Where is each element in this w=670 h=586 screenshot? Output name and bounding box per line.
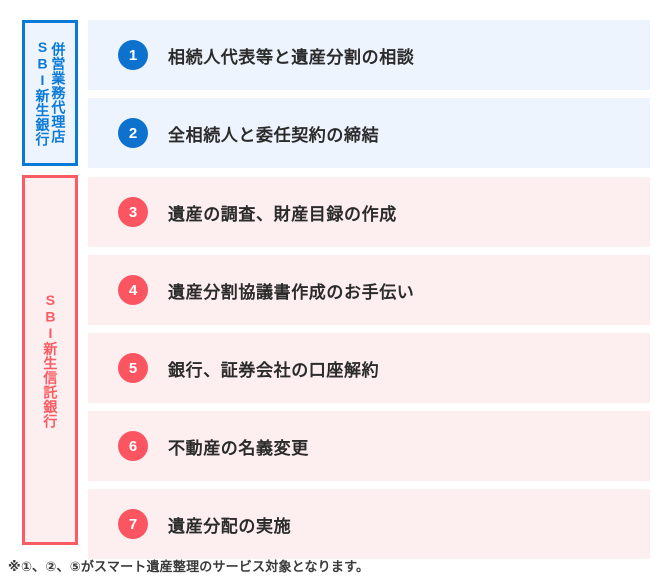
step-badge-6: 6 — [118, 431, 148, 461]
step-badge-5: 5 — [118, 353, 148, 383]
step-label-5: 銀行、証券会社の口座解約 — [168, 356, 379, 381]
step-label-2: 全相続人と委任契約の締結 — [168, 121, 379, 146]
party-name-label-bank: SBI新生銀行 — [35, 39, 50, 147]
step-row-5: 5 銀行、証券会社の口座解約 — [88, 333, 650, 403]
step-label-6: 不動産の名義変更 — [168, 434, 309, 459]
step-badge-1: 1 — [118, 40, 148, 70]
step-label-1: 相続人代表等と遺産分割の相談 — [168, 43, 414, 68]
party-box-sbi-shinsei-bank: 併営業務代理店 SBI新生銀行 — [22, 20, 78, 166]
step-label-3: 遺産の調査、財産目録の作成 — [168, 200, 397, 225]
step-row-1: 1 相続人代表等と遺産分割の相談 — [88, 20, 650, 90]
step-list: 1 相続人代表等と遺産分割の相談 2 全相続人と委任契約の締結 3 遺産の調査、… — [88, 20, 650, 567]
party-box-sbi-shinsei-trust-bank: SBI新生信託銀行 — [22, 175, 78, 545]
step-row-6: 6 不動産の名義変更 — [88, 411, 650, 481]
step-badge-2: 2 — [118, 118, 148, 148]
step-row-4: 4 遺産分割協議書作成のお手伝い — [88, 255, 650, 325]
inheritance-process-diagram: 併営業務代理店 SBI新生銀行 SBI新生信託銀行 1 相続人代表等と遺産分割の… — [0, 0, 670, 586]
step-badge-7: 7 — [118, 509, 148, 539]
party-name-label-trust-bank: SBI新生信託銀行 — [43, 292, 58, 429]
step-label-4: 遺産分割協議書作成のお手伝い — [168, 278, 414, 303]
step-badge-3: 3 — [118, 197, 148, 227]
step-badge-4: 4 — [118, 275, 148, 305]
step-label-7: 遺産分配の実施 — [168, 512, 291, 537]
party-role-label-bank: 併営業務代理店 — [51, 42, 66, 144]
step-row-3: 3 遺産の調査、財産目録の作成 — [88, 177, 650, 247]
step-row-2: 2 全相続人と委任契約の締結 — [88, 98, 650, 168]
footnote-text: ※①、②、⑤がスマート遺産整理のサービス対象となります。 — [8, 556, 369, 575]
step-row-7: 7 遺産分配の実施 — [88, 489, 650, 559]
